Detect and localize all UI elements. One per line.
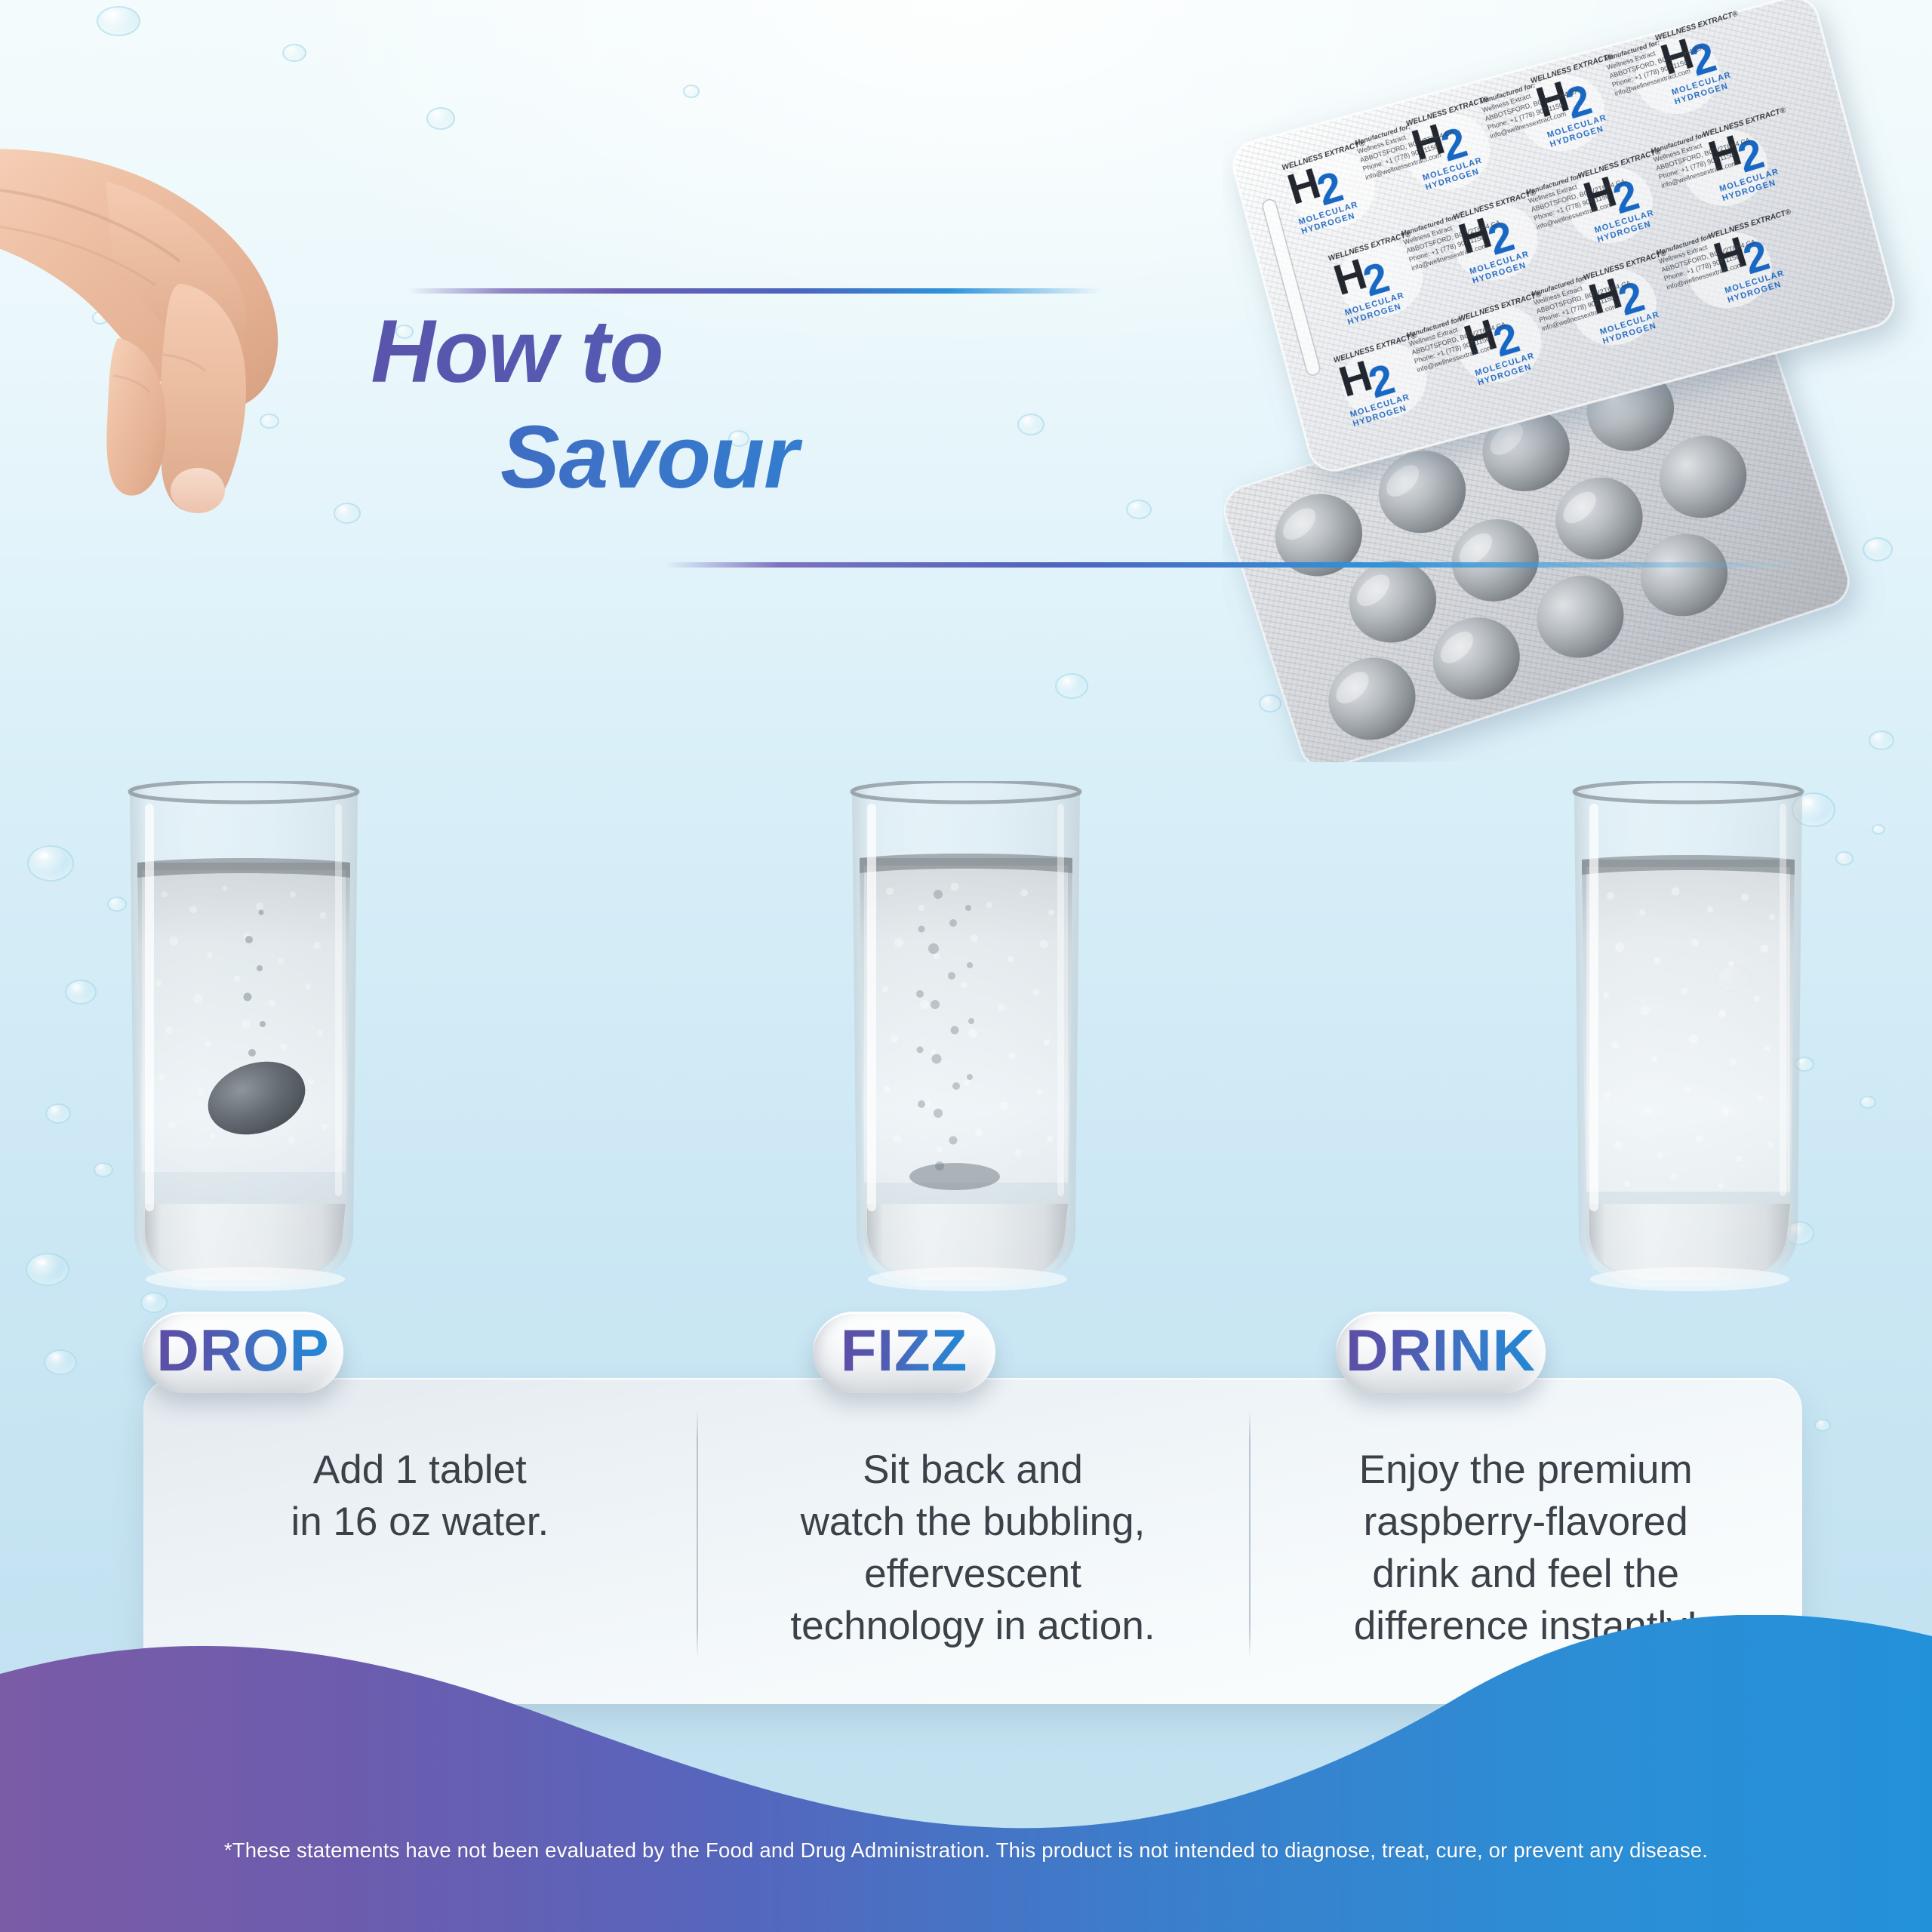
title-line-1: How to <box>0 307 1177 396</box>
bubble-icon <box>1055 673 1088 699</box>
step-label-fizz-text: FIZZ <box>841 1321 968 1380</box>
glass-step-fizz-image <box>841 781 1091 1294</box>
bubble-icon <box>97 6 140 36</box>
step-label-drink-text: DRINK <box>1346 1321 1536 1380</box>
title-line-2: Savour <box>121 413 1177 502</box>
poster-canvas: WELLNESS EXTRACT® H 2 MOLECULAR HYDROGEN… <box>0 0 1932 1932</box>
divider-bottom <box>664 562 1811 568</box>
bubble-icon <box>426 107 455 130</box>
step-label-drink[interactable]: DRINK <box>1336 1312 1546 1393</box>
glass-step-drop-image <box>119 781 368 1294</box>
bubble-icon <box>683 85 700 98</box>
step-label-drop[interactable]: DROP <box>143 1312 343 1393</box>
bubble-icon <box>282 44 306 62</box>
page-title: How to Savour <box>0 307 1177 502</box>
step-label-drop-text: DROP <box>156 1321 329 1380</box>
step-label-fizz[interactable]: FIZZ <box>813 1312 995 1393</box>
step-label-row: DROP FIZZ DRINK <box>0 1312 1932 1402</box>
glass-step-drink-image <box>1564 781 1813 1294</box>
headline-block: How to Savour <box>0 288 1932 605</box>
footer-wave <box>0 1615 1932 1932</box>
step-text-drop: Add 1 tablet in 16 oz water. <box>291 1444 549 1549</box>
footer-disclaimer: *These statements have not been evaluate… <box>0 1838 1932 1863</box>
glass-row <box>0 781 1932 1309</box>
bubble-icon <box>1814 1419 1831 1432</box>
divider-top <box>408 288 1102 294</box>
